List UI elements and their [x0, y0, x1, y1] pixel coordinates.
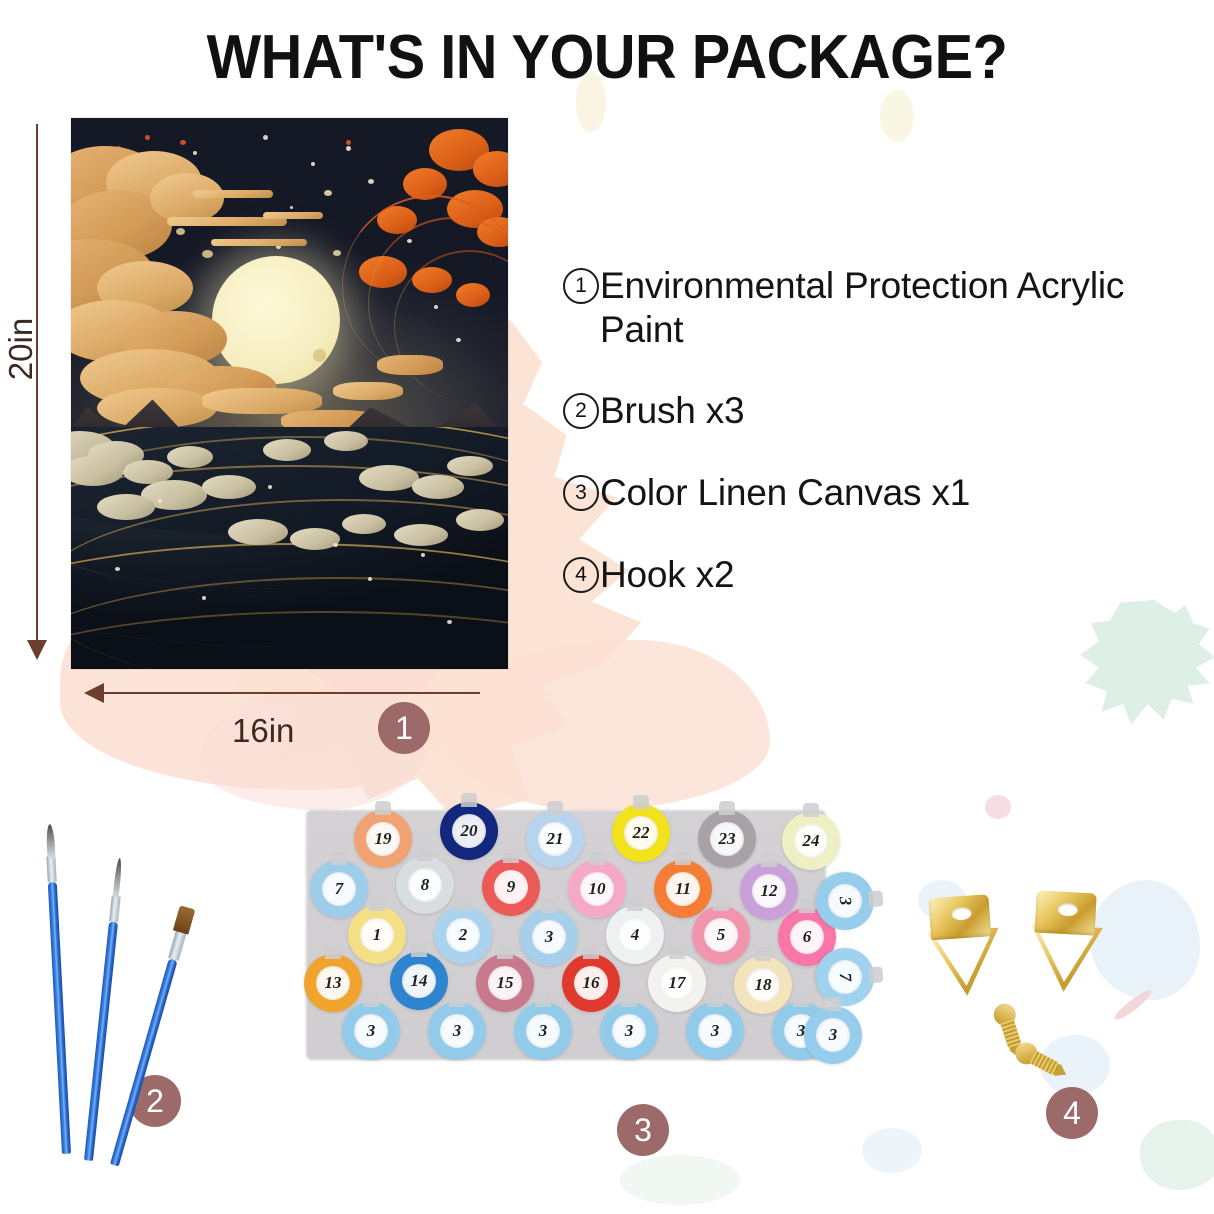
watercolor-splash-mint [1080, 600, 1214, 730]
paint-pot-number: 3 [612, 1014, 646, 1048]
paint-pot: 3 [600, 1002, 658, 1060]
paint-pot: 1 [348, 906, 406, 964]
paint-pot: 14 [390, 952, 448, 1010]
paint-pot: 24 [782, 812, 840, 870]
package-contents-infographic: WHAT'S IN YOUR PACKAGE? [0, 0, 1214, 1214]
list-item-label: Color Linen Canvas x1 [600, 471, 970, 515]
paint-pot: 15 [476, 954, 534, 1012]
brush-set-photo [40, 830, 270, 1170]
paint-pot: 3 [520, 908, 578, 966]
paint-pot-number: 19 [366, 822, 400, 856]
paint-pot: 16 [562, 954, 620, 1012]
left-arrow-icon [84, 683, 104, 703]
list-item-label: Hook x2 [600, 553, 734, 597]
paint-pot-number: 3 [816, 1018, 850, 1052]
paint-pot-number: 11 [666, 872, 700, 906]
paint-pot-number: 22 [624, 816, 658, 850]
paint-pot-number: 12 [752, 874, 786, 908]
paint-pot-number: 3 [827, 883, 863, 919]
paint-pot-number: 23 [710, 822, 744, 856]
paint-pot-number: 3 [698, 1014, 732, 1048]
paint-pot-number: 1 [360, 918, 394, 952]
paint-pot: 12 [740, 862, 798, 920]
paint-pot-number: 16 [574, 966, 608, 1000]
artwork-ocean [71, 427, 508, 669]
paint-pot-number: 20 [452, 814, 486, 848]
paint-pot: 23 [698, 810, 756, 868]
paint-pot-number: 15 [488, 966, 522, 1000]
list-item: 1 Environmental Protection Acrylic Paint [563, 264, 1163, 351]
paint-pot-number: 9 [494, 870, 528, 904]
paint-pot: 13 [304, 954, 362, 1012]
height-dimension-line [36, 124, 38, 654]
paint-pot: 3 [804, 1006, 862, 1064]
width-dimension-label: 16in [232, 712, 294, 750]
watercolor-splash-yellow-2 [880, 90, 914, 142]
paint-pot-number: 14 [402, 964, 436, 998]
paint-pot: 2 [434, 906, 492, 964]
paint-pot: 3 [514, 1002, 572, 1060]
paint-pot-number: 3 [526, 1014, 560, 1048]
canvas-artwork-preview [71, 118, 508, 669]
paint-pot-number: 2 [446, 918, 480, 952]
paint-pot-number: 13 [316, 966, 350, 1000]
package-contents-list: 1 Environmental Protection Acrylic Paint… [563, 264, 1163, 596]
paint-pot: 21 [526, 810, 584, 868]
paint-pot-number: 24 [794, 824, 828, 858]
paint-pot: 5 [692, 906, 750, 964]
badge-canvas: 1 [378, 702, 430, 754]
paint-pot: 19 [354, 810, 412, 868]
paint-pot: 10 [568, 860, 626, 918]
list-item-number: 4 [563, 557, 599, 593]
watercolor-splash-mint-2 [1140, 1120, 1214, 1190]
paint-pot: 11 [654, 860, 712, 918]
list-item-number: 3 [563, 475, 599, 511]
paint-pot-number: 7 [827, 959, 863, 995]
paint-pot-number: 4 [618, 918, 652, 952]
height-dimension-label: 20in [2, 318, 40, 380]
list-item: 2 Brush x3 [563, 389, 1163, 433]
badge-paint-pots: 3 [617, 1104, 669, 1156]
paint-pot-number: 7 [322, 872, 356, 906]
paint-pot: 7 [310, 860, 368, 918]
paint-pot-number: 5 [704, 918, 738, 952]
paint-pot: 3 [686, 1002, 744, 1060]
artwork-moon [212, 256, 340, 384]
paint-pot: 9 [482, 858, 540, 916]
d-ring-hook-1 [924, 894, 1003, 1004]
down-arrow-icon [27, 640, 47, 660]
d-ring-hook-2 [1027, 890, 1104, 999]
watercolor-splash-pink-dot [985, 795, 1011, 819]
paint-pot-number: 21 [538, 822, 572, 856]
list-item-label: Environmental Protection Acrylic Paint [600, 264, 1140, 351]
list-item-label: Brush x3 [600, 389, 744, 433]
page-title: WHAT'S IN YOUR PACKAGE? [42, 22, 1171, 93]
paint-pot: 3 [428, 1002, 486, 1060]
paint-pot: 8 [396, 856, 454, 914]
hook-hardware-photo [920, 890, 1150, 1140]
list-item: 3 Color Linen Canvas x1 [563, 471, 1163, 515]
paint-pot: 17 [648, 954, 706, 1012]
paint-pot-number: 18 [746, 968, 780, 1002]
list-item-number: 2 [563, 393, 599, 429]
paint-pot-number: 3 [440, 1014, 474, 1048]
artwork-illustration [71, 118, 508, 669]
paint-pot: 20 [440, 802, 498, 860]
paint-pot: 4 [606, 906, 664, 964]
watercolor-splash-blue-4 [862, 1128, 922, 1173]
paint-pot: 22 [612, 804, 670, 862]
paint-pot: 18 [734, 956, 792, 1014]
paint-pot-number: 6 [790, 920, 824, 954]
paint-pot: 3 [342, 1002, 400, 1060]
paint-pot-number: 8 [408, 868, 442, 902]
paint-pot-number: 17 [660, 966, 694, 1000]
watercolor-splash-green-bottom [620, 1155, 740, 1205]
list-item: 4 Hook x2 [563, 553, 1163, 597]
paint-pot-number: 3 [532, 920, 566, 954]
width-dimension-line [94, 692, 480, 694]
paint-pot-tray: 19 20 21 22 23 24 7 8 9 10 11 12 1 2 3 4… [282, 788, 852, 1078]
paint-pot-number: 3 [354, 1014, 388, 1048]
list-item-number: 1 [563, 268, 599, 304]
paint-pot-number: 10 [580, 872, 614, 906]
